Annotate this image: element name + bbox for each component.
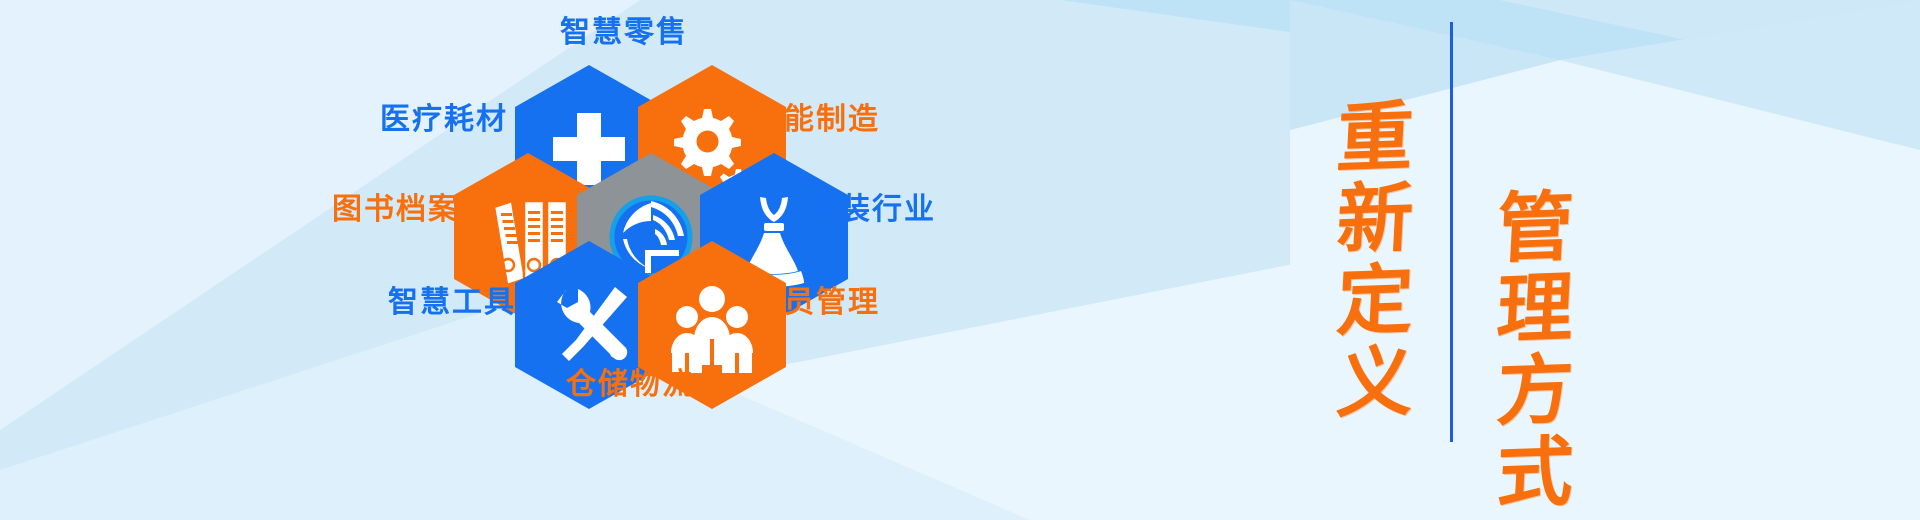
label-books-archive: 图书档案 <box>332 195 460 225</box>
calligraphy-divider-line <box>1450 22 1453 442</box>
calligraphy-char: 新 <box>1335 179 1415 259</box>
calligraphy-char: 义 <box>1335 342 1415 422</box>
label-warehouse-logistics: 仓储物流 <box>566 370 694 400</box>
promotional-banner: 智慧零售 医疗耗材 智能制造 图书档案 服装行业 智慧工具 人员管理 仓储物流 … <box>0 0 1920 520</box>
calligraphy-char: 方 <box>1495 351 1575 431</box>
calligraphy-char: 定 <box>1335 261 1415 341</box>
calligraphy-slogan: 重 新 定 义 管 理 方 式 <box>1290 0 1630 520</box>
background-shapes-svg <box>0 0 1920 520</box>
calligraphy-char: 重 <box>1335 98 1415 178</box>
label-smart-tools: 智慧工具 <box>388 288 516 318</box>
calligraphy-char: 理 <box>1495 269 1575 349</box>
calligraphy-char: 式 <box>1495 432 1575 512</box>
label-medical-supplies: 医疗耗材 <box>380 105 508 135</box>
calligraphy-column-left: 重 新 定 义 <box>1310 0 1440 520</box>
background-decoration <box>0 0 1920 520</box>
label-smart-manufacturing: 智能制造 <box>752 105 880 135</box>
label-apparel-industry: 服装行业 <box>808 195 936 225</box>
calligraphy-column-right: 管 理 方 式 <box>1470 0 1600 520</box>
calligraphy-char: 管 <box>1495 188 1575 268</box>
label-smart-retail: 智慧零售 <box>560 18 688 48</box>
label-personnel-management: 人员管理 <box>752 288 880 318</box>
